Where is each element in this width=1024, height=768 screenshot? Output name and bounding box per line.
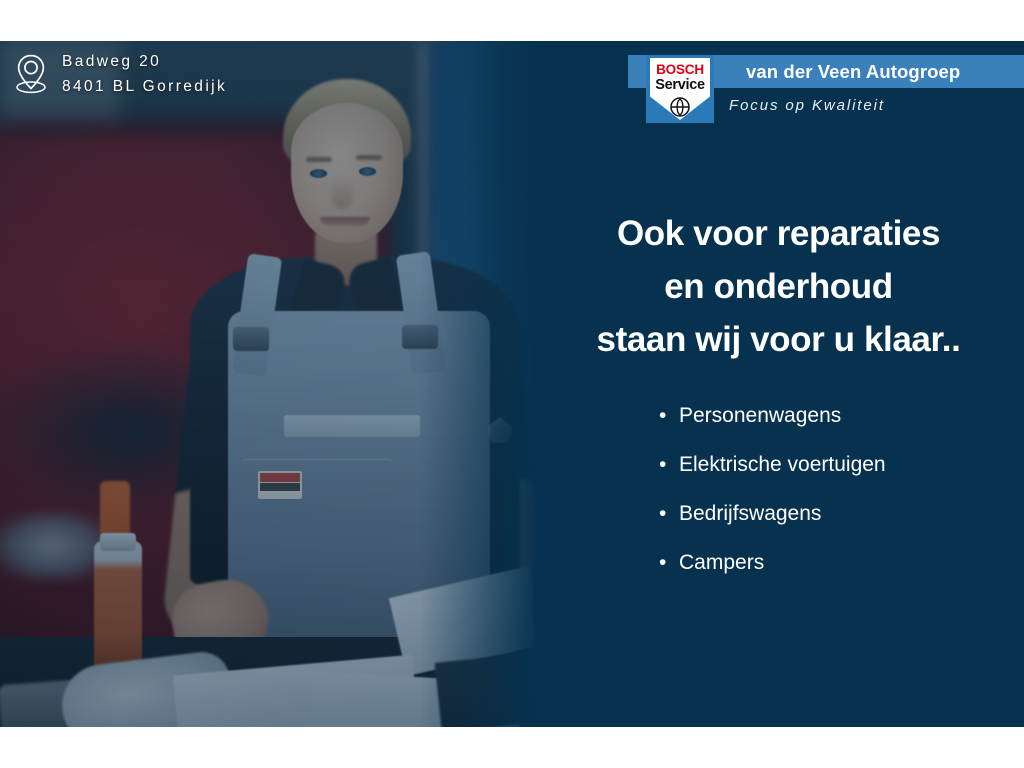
headline-line-3: staan wij voor u klaar.. — [533, 313, 1024, 366]
headline: Ook voor reparaties en onderhoud staan w… — [533, 207, 1024, 366]
company-tagline: Focus op Kwaliteit — [729, 97, 885, 114]
bosch-wordmark: BOSCH — [646, 62, 714, 77]
headline-line-2: en onderhoud — [533, 260, 1024, 313]
bosch-armature-icon — [670, 97, 690, 117]
address-block: Badweg 20 8401 BL Gorredijk — [14, 49, 227, 99]
bosch-service-logo: BOSCH Service — [646, 55, 714, 123]
address-line-2: 8401 BL Gorredijk — [62, 74, 227, 99]
address-text: Badweg 20 8401 BL Gorredijk — [62, 49, 227, 99]
map-pin-icon — [14, 53, 48, 95]
address-line-1: Badweg 20 — [62, 49, 227, 74]
company-name: van der Veen Autogroep — [746, 56, 1024, 87]
list-item: Campers — [659, 538, 886, 587]
list-item: Elektrische voertuigen — [659, 440, 886, 489]
bosch-service-wordmark: Service — [646, 77, 714, 93]
mechanic-photo — [0, 41, 540, 727]
list-item: Bedrijfswagens — [659, 489, 886, 538]
promo-banner: Badweg 20 8401 BL Gorredijk BOSCH Servic… — [0, 41, 1024, 727]
headline-line-1: Ook voor reparaties — [533, 207, 1024, 260]
list-item: Personenwagens — [659, 391, 886, 440]
info-panel: BOSCH Service van der Veen Autogroep Foc… — [533, 41, 1024, 727]
services-list: Personenwagens Elektrische voertuigen Be… — [659, 391, 886, 587]
photo-edge-fade — [420, 41, 540, 727]
